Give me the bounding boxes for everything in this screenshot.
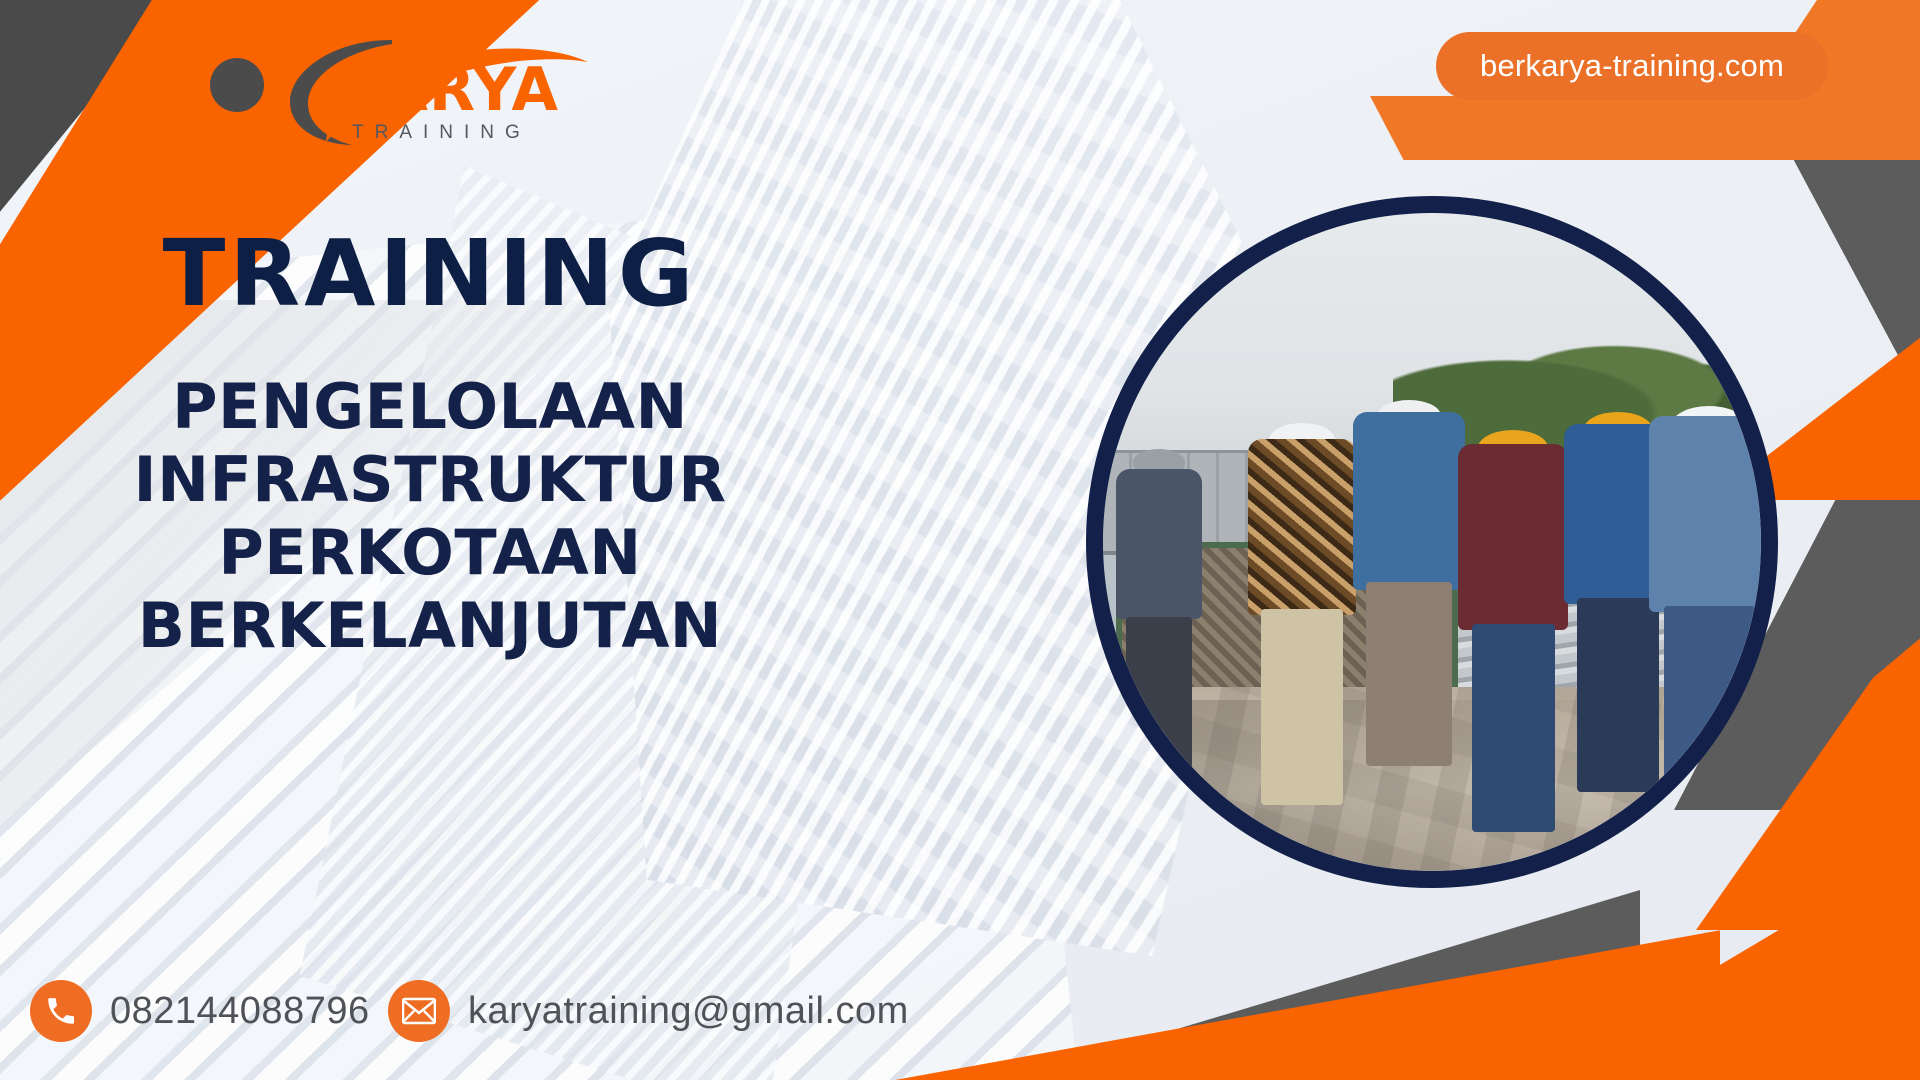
photo-legs xyxy=(1261,609,1343,805)
logo-subtext: TRAINING xyxy=(352,122,531,144)
logo-wordmark: KARYA xyxy=(334,60,559,120)
website-badge[interactable]: berkarya-training.com xyxy=(1436,32,1828,100)
subtitle-block: PENGELOLAAN INFRASTRUKTUR PERKOTAAN BERK… xyxy=(0,370,860,663)
subtitle-line-2: INFRASTRUKTUR xyxy=(0,443,860,516)
contact-email[interactable]: karyatraining@gmail.com xyxy=(388,980,909,1042)
photo-legs xyxy=(1664,606,1755,818)
contact-email-value: karyatraining@gmail.com xyxy=(468,990,909,1033)
photo-legs xyxy=(1577,598,1659,792)
contact-phone[interactable]: 082144088796 xyxy=(30,980,370,1042)
photo-batik-shirt xyxy=(1248,439,1356,615)
envelope-icon xyxy=(388,980,450,1042)
subtitle-line-3: PERKOTAAN xyxy=(0,516,860,589)
brand-logo[interactable]: KARYA TRAINING xyxy=(204,34,584,146)
photo-person-3 xyxy=(1353,400,1465,766)
photo-denim-shirt xyxy=(1649,416,1761,612)
subtitle-line-1: PENGELOLAAN xyxy=(0,370,860,443)
photo-legs xyxy=(1126,617,1191,779)
photo-torso xyxy=(1116,469,1202,619)
page-title: TRAINING xyxy=(0,228,860,320)
subtitle-line-4: BERKELANJUTAN xyxy=(0,589,860,662)
photo-blue-jacket xyxy=(1353,412,1465,590)
photo-person-4 xyxy=(1458,430,1568,832)
poster-canvas: KARYA TRAINING berkarya-training.com TRA… xyxy=(0,0,1920,1080)
website-label: berkarya-training.com xyxy=(1480,48,1784,83)
headline-text: TRAINING xyxy=(0,228,860,320)
phone-icon xyxy=(30,980,92,1042)
hero-photo-image xyxy=(1103,213,1761,871)
photo-person-1 xyxy=(1116,449,1202,779)
photo-legs xyxy=(1366,582,1451,766)
photo-person-2 xyxy=(1248,423,1356,805)
logo-dot-icon xyxy=(210,58,264,112)
photo-person-6 xyxy=(1649,406,1761,818)
photo-legs xyxy=(1472,624,1556,832)
contact-phone-value: 082144088796 xyxy=(110,990,370,1033)
photo-maroon-sweater xyxy=(1458,444,1568,630)
hero-photo xyxy=(1086,196,1778,888)
